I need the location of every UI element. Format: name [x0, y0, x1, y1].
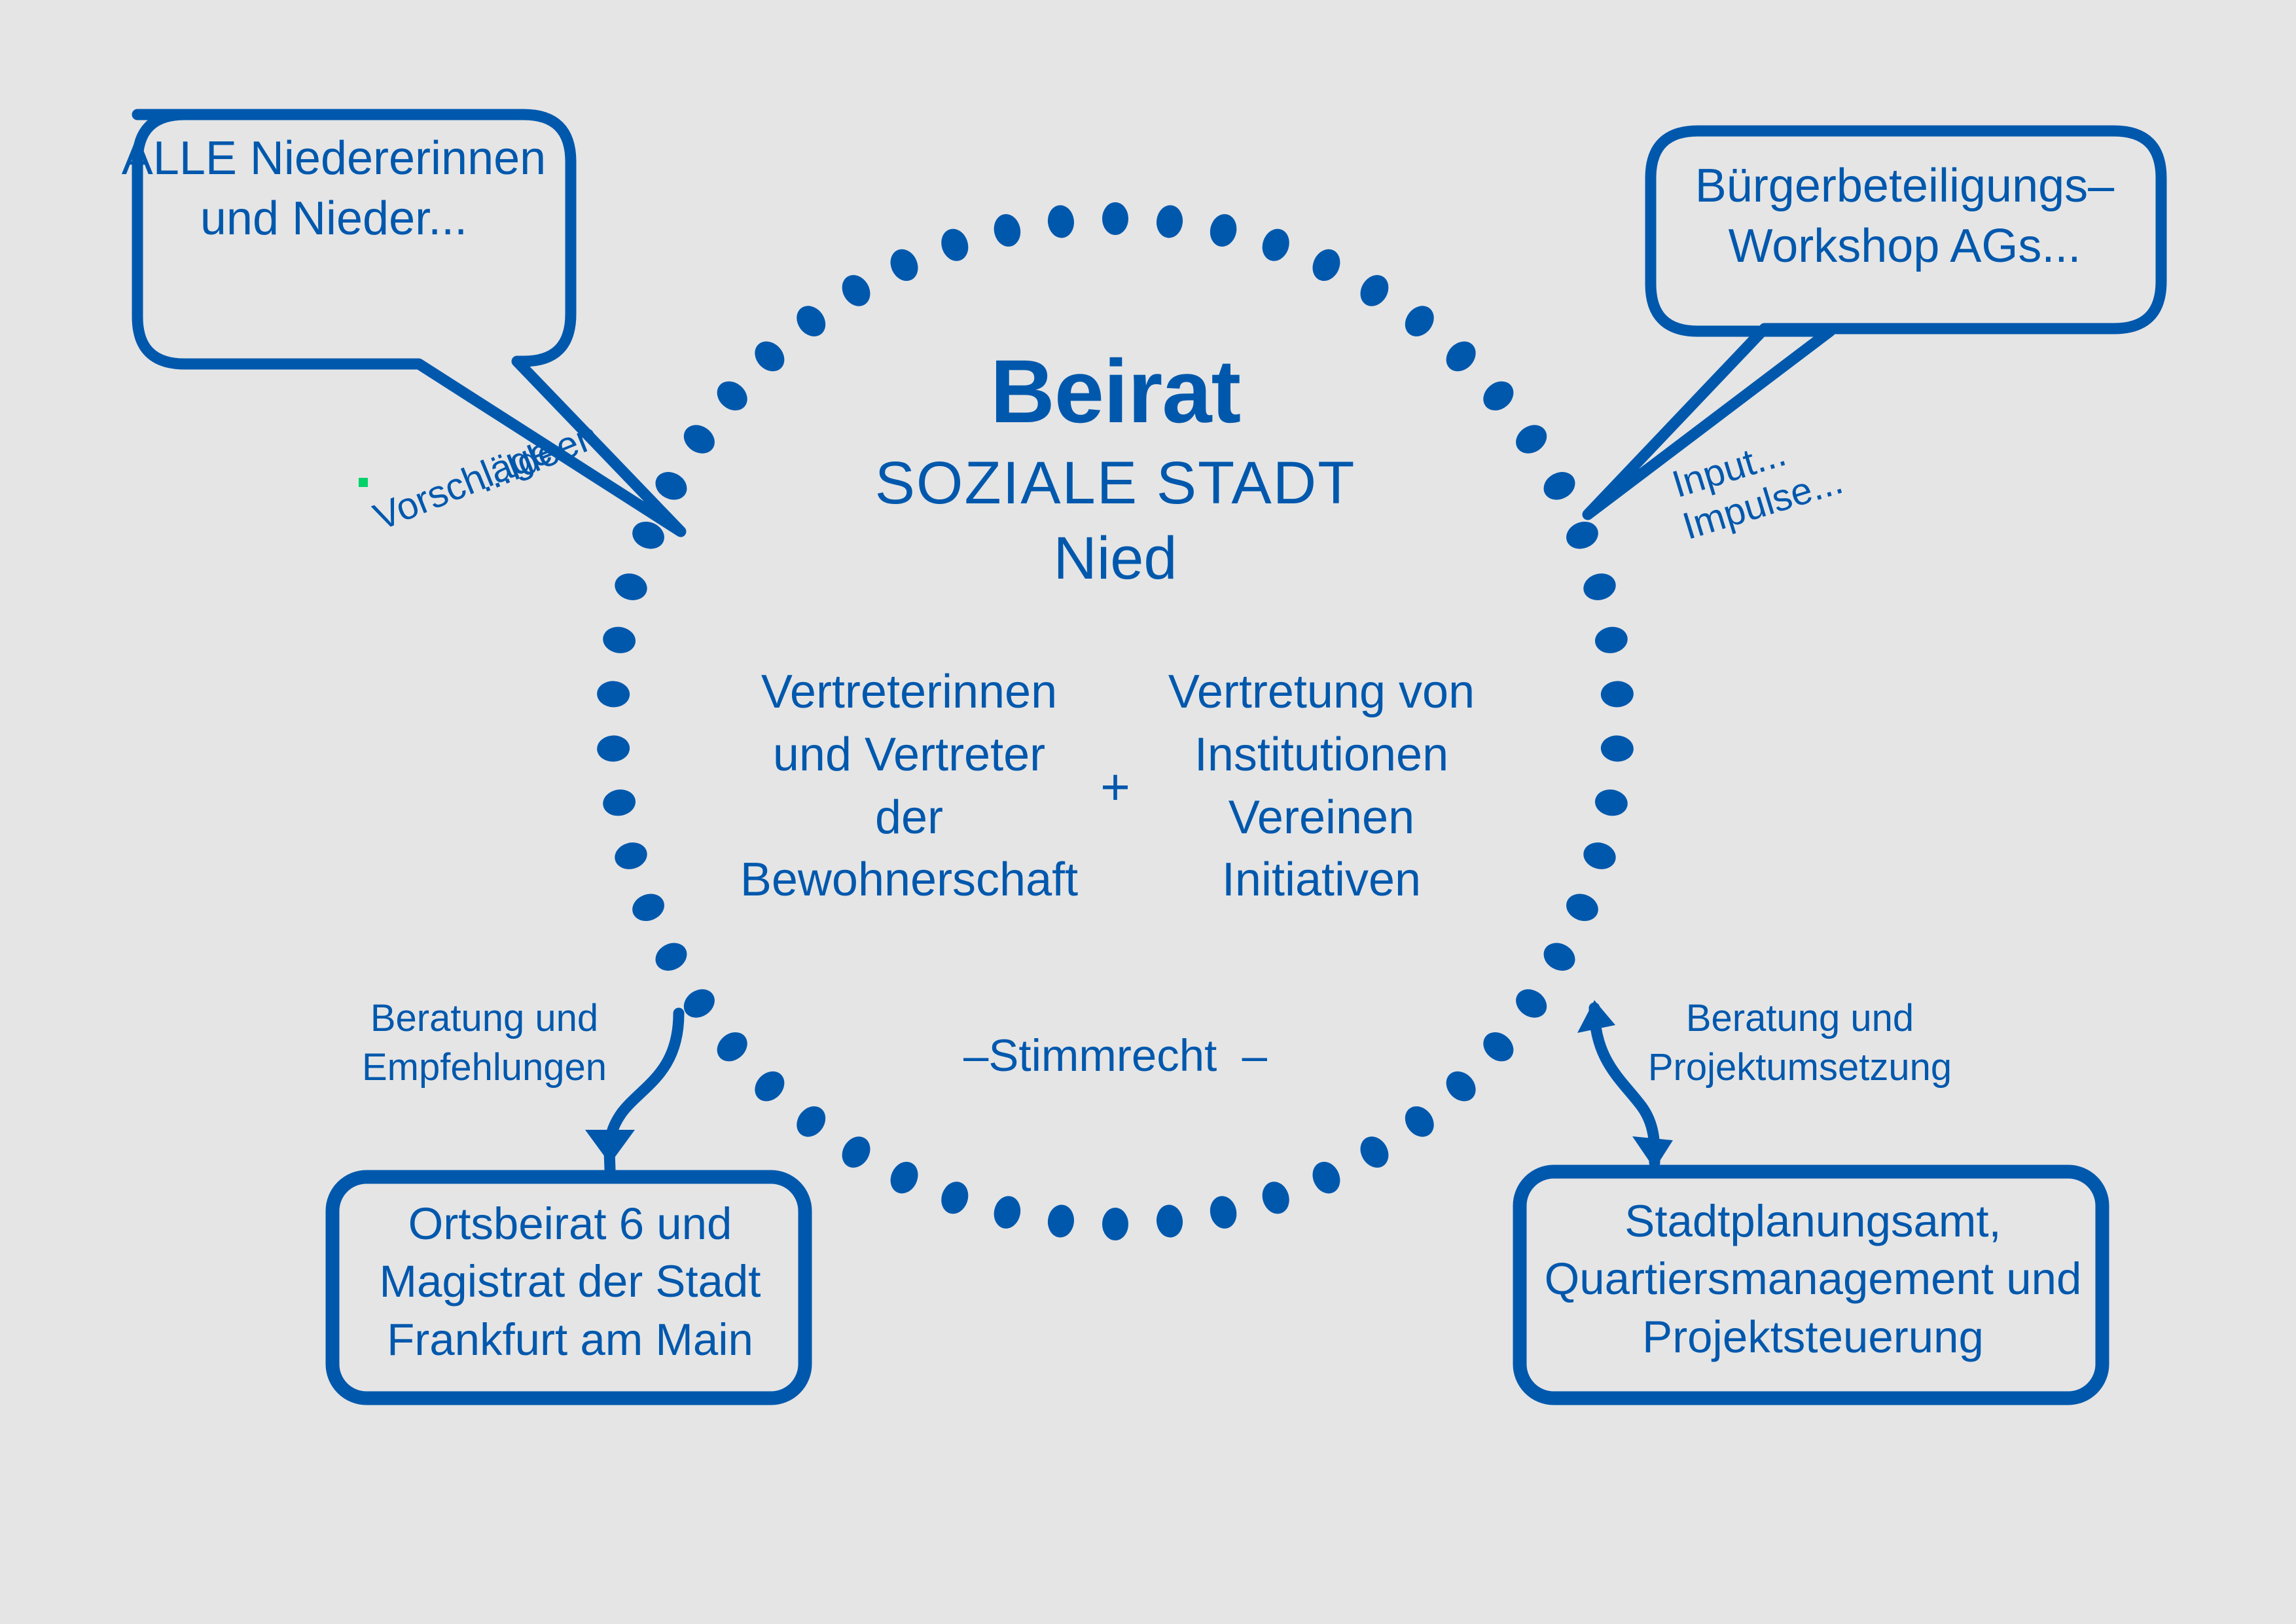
ring-dot — [1562, 889, 1602, 926]
ring-dot — [1562, 517, 1602, 554]
ring-dot — [991, 211, 1024, 249]
ring-dot — [1399, 300, 1440, 342]
ring-dot — [1155, 1203, 1184, 1238]
ring-dot — [678, 983, 720, 1023]
ring-dot — [791, 1100, 831, 1142]
ring-dot — [1600, 734, 1634, 763]
ring-dot — [886, 245, 923, 285]
ring-dot — [601, 787, 637, 818]
column-institutionen: Vertretung von Institutionen Vereinen In… — [1151, 661, 1492, 912]
center-title-group: Beirat SOZIALE STADT Nied — [690, 347, 1541, 596]
column-bewohnerschaft: Vertreterinnen und Vertreter der Bewohne… — [739, 661, 1079, 912]
page-title: Beirat — [690, 347, 1541, 437]
bubble-top-left-label: ALLE Niedererinnen und Nieder... — [92, 128, 576, 249]
label-beratung-projektumsetzung: Beratung und Projektumsetzung — [1636, 994, 1964, 1092]
stimmrecht-note: –Stimmrecht – — [690, 1029, 1541, 1082]
ring-dot — [1046, 1203, 1075, 1238]
ring-dot — [836, 1131, 876, 1172]
ring-dot — [1355, 270, 1394, 311]
ring-dot — [1102, 202, 1128, 235]
green-marker-dot — [359, 478, 368, 487]
center-columns: Vertreterinnen und Vertreter der Bewohne… — [677, 661, 1554, 912]
ring-dot — [1399, 1100, 1440, 1142]
label-beratung-empfehlungen: Beratung und Empfehlungen — [340, 994, 628, 1092]
ring-dot — [791, 300, 831, 342]
ring-dot — [937, 225, 973, 264]
ring-dot — [937, 1178, 973, 1218]
ring-dot — [1600, 680, 1634, 708]
ring-dot — [596, 734, 630, 763]
box-ortsbeirat-label: Ortsbeirat 6 und Magistrat der Stadt Fra… — [338, 1195, 802, 1369]
ring-dot — [601, 624, 637, 656]
ring-dot — [612, 839, 651, 873]
ring-dot — [886, 1157, 923, 1198]
ring-dot — [1207, 211, 1240, 249]
ring-dot — [596, 680, 630, 708]
ring-dot — [1539, 937, 1580, 976]
ring-dot — [1593, 624, 1630, 656]
ring-dot — [1539, 467, 1580, 505]
ring-dot — [991, 1193, 1024, 1231]
box-stadtplanungsamt-label: Stadtplanungsamt, Quartiersmanagement un… — [1525, 1193, 2101, 1366]
ring-dot — [1308, 245, 1345, 285]
ring-dot — [1102, 1208, 1128, 1240]
ring-dot — [1581, 839, 1619, 873]
ring-dot — [836, 270, 876, 311]
ring-dot — [1258, 1178, 1293, 1218]
ring-dot — [1207, 1193, 1240, 1231]
ring-dot — [1593, 787, 1630, 818]
ring-dot — [612, 570, 651, 604]
ring-dot — [1355, 1131, 1394, 1172]
ring-dot — [1258, 225, 1293, 264]
ring-dot — [1155, 204, 1184, 239]
bubble-top-right-label: Bürgerbeteiligungs– Workshop AGs... — [1662, 156, 2147, 276]
ring-dot — [628, 889, 668, 926]
ring-dot — [1046, 204, 1075, 239]
ring-dot — [1581, 570, 1619, 604]
ring-dot — [1308, 1157, 1345, 1198]
plus-operator: + — [1079, 761, 1151, 812]
ring-dot — [1511, 983, 1552, 1023]
subtitle-line-1: SOZIALE STADT — [690, 446, 1541, 521]
subtitle-line-2: Nied — [690, 521, 1541, 596]
diagram-canvas: Beirat SOZIALE STADT Nied Vertreterinnen… — [0, 0, 2296, 1624]
ring-dot — [651, 937, 692, 976]
